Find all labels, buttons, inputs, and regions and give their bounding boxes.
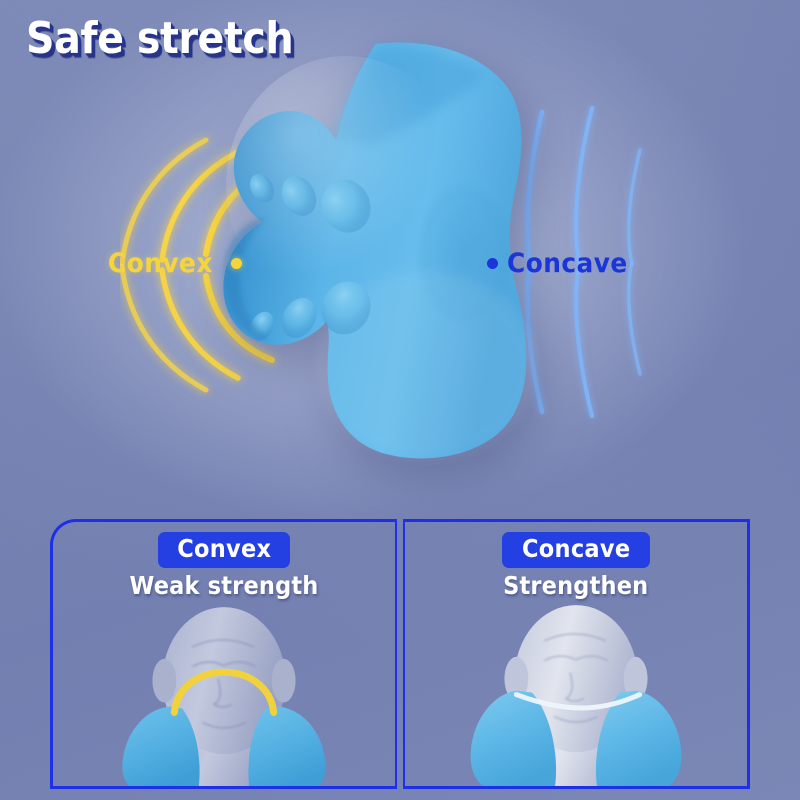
panel-convex: Convex Weak strength [50, 519, 397, 789]
comparison-panels: Convex Weak strength [50, 519, 750, 789]
page-title-text: Safe stretch [26, 14, 293, 64]
callout-concave-label: Concave [507, 248, 628, 279]
dot-marker-concave-icon [487, 258, 498, 269]
panel-concave: Concave Strengthen [403, 519, 750, 789]
panel-convex-subtitle-text: Weak strength [130, 571, 319, 601]
panel-concave-subtitle: Strengthen [405, 571, 747, 601]
hero-product-section: Convex Concave [0, 0, 800, 500]
panel-concave-badge: Concave [502, 532, 650, 568]
product-marketing-image: Safe stretch [0, 0, 800, 800]
callout-convex: Convex [108, 248, 242, 279]
panel-concave-figure [405, 594, 747, 789]
panel-convex-subtitle: Weak strength [53, 571, 395, 601]
callout-concave: Concave [487, 248, 638, 279]
callout-convex-label: Convex [108, 248, 213, 279]
panel-concave-badge-label: Concave [522, 536, 630, 562]
panel-convex-badge-label: Convex [177, 536, 271, 562]
panel-convex-header: Convex Weak strength [53, 522, 395, 601]
panel-concave-subtitle-text: Strengthen [503, 571, 648, 601]
page-title: Safe stretch [26, 14, 323, 64]
dot-marker-convex-icon [231, 258, 242, 269]
panel-convex-figure [53, 594, 395, 789]
panel-convex-badge: Convex [158, 532, 291, 568]
panel-concave-header: Concave Strengthen [405, 522, 747, 601]
